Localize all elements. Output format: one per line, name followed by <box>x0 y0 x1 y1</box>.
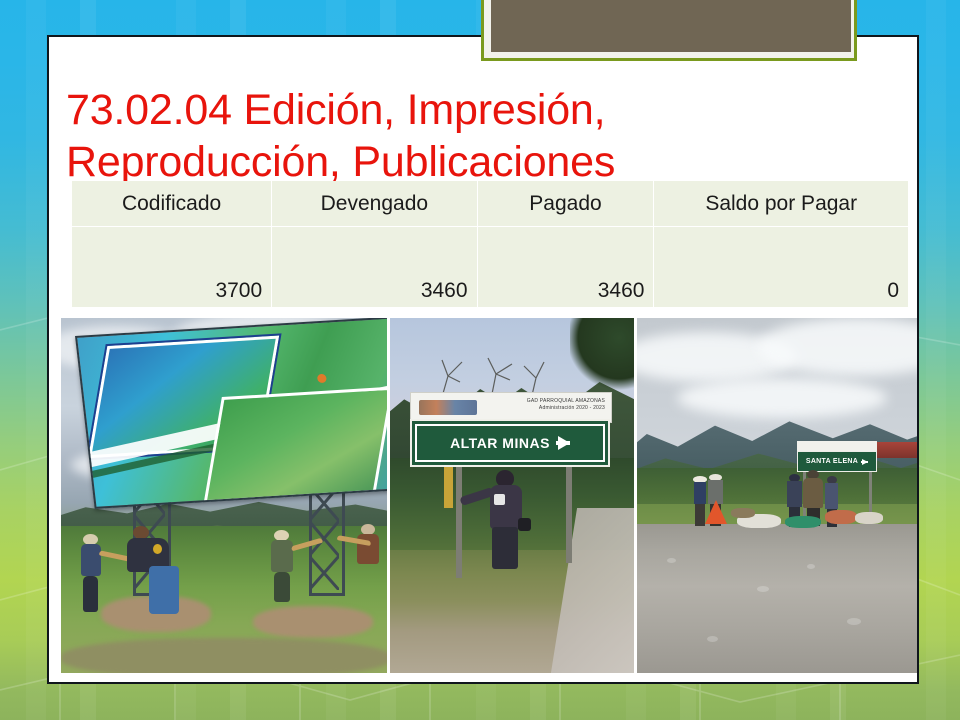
table-header-row: Codificado Devengado Pagado Saldo por Pa… <box>72 181 908 227</box>
photo2-sign-post <box>566 463 572 563</box>
slide-canvas: 73.02.04 Edición, Impresión, Reproducció… <box>0 0 960 720</box>
photo2-sign-header-line-1: GAD PARROQUIAL AMAZONAS <box>527 398 605 405</box>
photo1-billboard-map-panel <box>203 387 387 503</box>
cell-saldo-por-pagar: 0 <box>654 227 908 308</box>
table-header-saldo-por-pagar: Saldo por Pagar <box>654 181 908 227</box>
photo2-sign-header-line-2: Administración 2020 - 2023 <box>527 405 605 412</box>
photo3-pebble <box>707 636 718 642</box>
photo-billboard-installation <box>61 318 387 673</box>
photo2-sign-text: ALTAR MINAS <box>450 435 550 451</box>
photo3-material-sack <box>785 516 821 528</box>
overlay-box-fill <box>491 0 851 52</box>
photo2-arrow-right-icon <box>558 436 570 450</box>
page-title-line-1: 73.02.04 Edición, Impresión, <box>66 84 856 136</box>
photo1-billboard <box>75 318 387 509</box>
budget-table: Codificado Devengado Pagado Saldo por Pa… <box>72 181 908 308</box>
photo3-arrow-right-icon <box>862 459 868 465</box>
photo1-truss-cross <box>309 486 339 590</box>
cell-devengado: 3460 <box>272 227 477 308</box>
table-header-codificado: Codificado <box>72 181 272 227</box>
photo1-dirt-patch <box>253 606 373 638</box>
photo2-sign-inner: ALTAR MINAS <box>415 424 605 462</box>
photo-altar-minas-sign: GAD PARROQUIAL AMAZONAS Administración 2… <box>390 318 634 673</box>
photo3-dirt-road <box>637 524 917 673</box>
cell-pagado: 3460 <box>477 227 654 308</box>
table-header-devengado: Devengado <box>272 181 477 227</box>
photo3-pebble <box>807 564 815 569</box>
photo3-sign-text: SANTA ELENA <box>806 458 858 465</box>
photo2-yellow-marker-post <box>444 466 453 508</box>
photo3-traffic-cone <box>705 500 727 524</box>
page-title: 73.02.04 Edición, Impresión, Reproducció… <box>66 84 856 188</box>
photo3-material-sack <box>825 510 857 524</box>
photo-santa-elena-sign: SANTA ELENA <box>637 318 917 673</box>
page-title-line-2: Reproducción, Publicaciones <box>66 136 856 188</box>
photo3-pebble <box>667 558 676 563</box>
photo2-sign-green-panel: ALTAR MINAS <box>410 419 610 467</box>
photo1-dirt-patch <box>61 638 387 673</box>
photo-strip: GAD PARROQUIAL AMAZONAS Administración 2… <box>61 318 917 673</box>
photo3-sign-post <box>869 470 872 518</box>
photo3-pebble <box>757 586 769 592</box>
table-row: 3700 3460 3460 0 <box>72 227 908 308</box>
cell-codificado: 3700 <box>72 227 272 308</box>
photo2-sign-logo <box>419 400 477 415</box>
photo3-sign-green-panel: SANTA ELENA <box>797 451 877 472</box>
photo3-cloud <box>677 378 887 418</box>
overlay-decorative-box <box>481 0 857 61</box>
photo3-material-sack <box>855 512 883 524</box>
photo2-sign-header-text: GAD PARROQUIAL AMAZONAS Administración 2… <box>527 398 605 412</box>
photo3-material-sack <box>731 508 755 518</box>
photo2-sign-post <box>456 463 462 578</box>
table-header-pagado: Pagado <box>477 181 654 227</box>
photo2-tree-foliage <box>570 318 634 394</box>
photo3-pebble <box>847 618 861 625</box>
photo1-billboard-marker <box>317 374 327 383</box>
